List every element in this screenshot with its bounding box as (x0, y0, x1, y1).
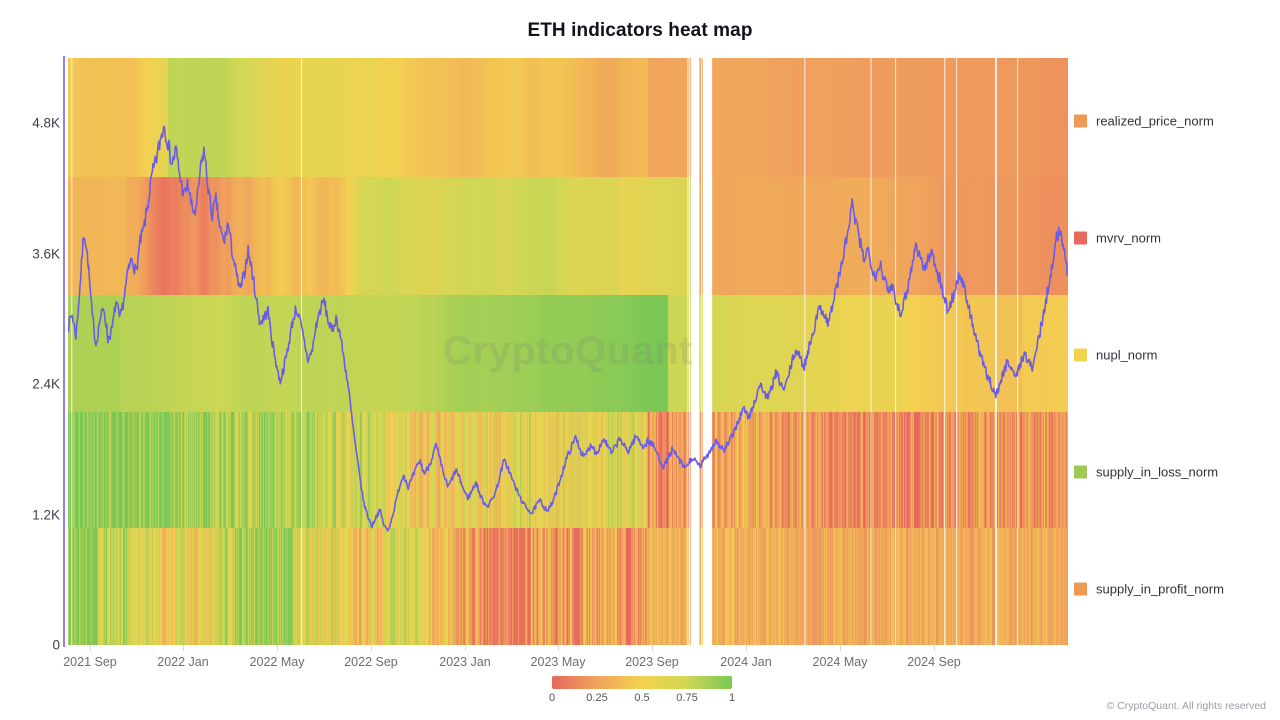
legend-swatch-icon (1074, 583, 1087, 596)
x-axis-tick-mark (90, 645, 91, 651)
legend-label: nupl_norm (1096, 348, 1157, 363)
x-axis-tick: 2024 May (813, 655, 868, 669)
x-axis-tick-mark (840, 645, 841, 651)
chart-root: ETH indicators heat map 01.2K2.4K3.6K4.8… (0, 0, 1280, 720)
x-axis-tick: 2023 May (531, 655, 586, 669)
legend-label: mvrv_norm (1096, 231, 1161, 246)
colorbar-tick: 0.25 (586, 692, 607, 704)
x-axis-tick: 2022 Sep (344, 655, 398, 669)
x-axis-tick-mark (934, 645, 935, 651)
x-axis-tick-mark (746, 645, 747, 651)
colorbar-tick: 0.75 (676, 692, 697, 704)
colorbar-tick: 1 (729, 692, 735, 704)
x-axis-tick: 2021 Sep (63, 655, 117, 669)
legend-item-supply-in-profit-norm[interactable]: supply_in_profit_norm (1074, 582, 1224, 597)
x-axis-tick: 2022 May (250, 655, 305, 669)
colorbar: 00.250.50.751 (552, 676, 732, 708)
chart-legend: realized_price_normmvrv_normnupl_normsup… (1074, 58, 1280, 645)
colorbar-tick: 0.5 (634, 692, 649, 704)
legend-swatch-icon (1074, 349, 1087, 362)
legend-swatch-icon (1074, 115, 1087, 128)
legend-swatch-icon (1074, 466, 1087, 479)
legend-swatch-icon (1074, 232, 1087, 245)
legend-item-mvrv-norm[interactable]: mvrv_norm (1074, 231, 1161, 246)
x-axis-tick-mark (465, 645, 466, 651)
legend-item-realized-price-norm[interactable]: realized_price_norm (1074, 114, 1214, 129)
x-axis-tick: 2023 Jan (439, 655, 490, 669)
legend-label: realized_price_norm (1096, 114, 1214, 129)
x-axis-tick-mark (652, 645, 653, 651)
legend-label: supply_in_profit_norm (1096, 582, 1224, 597)
x-axis-tick-mark (371, 645, 372, 651)
x-axis-tick: 2024 Jan (720, 655, 771, 669)
x-axis-tick-mark (277, 645, 278, 651)
colorbar-tick-labels: 00.250.50.751 (552, 692, 732, 708)
legend-item-nupl-norm[interactable]: nupl_norm (1074, 348, 1157, 363)
x-axis-tick: 2023 Sep (625, 655, 679, 669)
x-axis-tick-mark (558, 645, 559, 651)
footer-credit: © CryptoQuant. All rights reserved (1107, 700, 1266, 712)
x-axis-tick-mark (183, 645, 184, 651)
x-axis-tick: 2022 Jan (157, 655, 208, 669)
legend-item-supply-in-loss-norm[interactable]: supply_in_loss_norm (1074, 465, 1218, 480)
legend-label: supply_in_loss_norm (1096, 465, 1218, 480)
colorbar-gradient (552, 676, 732, 689)
x-axis-tick: 2024 Sep (907, 655, 961, 669)
colorbar-tick: 0 (549, 692, 555, 704)
